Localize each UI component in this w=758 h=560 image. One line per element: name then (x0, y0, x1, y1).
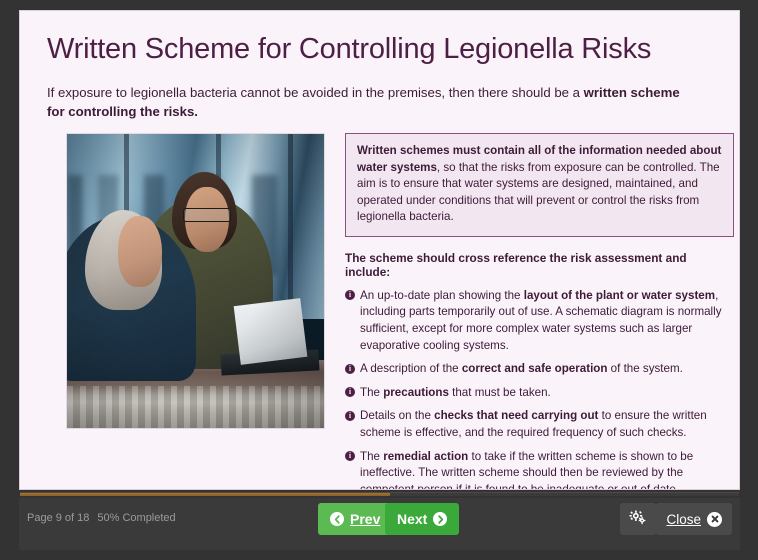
callout-box: Written schemes must contain all of the … (345, 133, 734, 237)
page-title: Written Scheme for Controlling Legionell… (47, 33, 714, 65)
slide-body: Written schemes must contain all of the … (66, 133, 734, 433)
progress-bar-fill (20, 493, 390, 496)
list-item-bold: layout of the plant or water system (524, 289, 715, 302)
list-item: iA description of the correct and safe o… (345, 361, 734, 378)
page-status: Page 9 of 1850% Completed (27, 512, 184, 524)
completion-status: 50% Completed (97, 512, 175, 524)
next-button-label: Next (397, 511, 427, 527)
intro-paragraph: If exposure to legionella bacteria canno… (47, 84, 699, 121)
page-counter: Page 9 of 18 (27, 512, 89, 524)
close-circle-icon (707, 512, 722, 527)
slide-header-block: Written Scheme for Controlling Legionell… (47, 33, 714, 122)
info-icon: i (345, 364, 355, 374)
list-item-pre: The (360, 450, 383, 463)
list-item: iDetails on the checks that need carryin… (345, 408, 734, 441)
chevron-left-circle-icon (330, 512, 344, 526)
info-icon: i (345, 290, 355, 300)
player-control-bar: Page 9 of 1850% Completed Prev Next (19, 498, 740, 550)
list-item-pre: An up-to-date plan showing the (360, 289, 524, 302)
info-icon: i (345, 451, 355, 461)
list-item-bold: checks that need carrying out (434, 409, 598, 422)
list-item: iThe remedial action to take if the writ… (345, 449, 734, 490)
list-item-bold: remedial action (383, 450, 468, 463)
prev-button[interactable]: Prev (318, 503, 392, 535)
slide-text-column: Written schemes must contain all of the … (345, 133, 734, 490)
info-icon: i (345, 387, 355, 397)
list-item-pre: Details on the (360, 409, 434, 422)
list-item-pre: A description of the (360, 362, 462, 375)
list-item-post: that must be taken. (449, 386, 551, 399)
prev-button-label: Prev (350, 511, 380, 527)
next-button[interactable]: Next (385, 503, 459, 535)
list-item-post: of the system. (607, 362, 682, 375)
course-player: Written Scheme for Controlling Legionell… (0, 0, 758, 560)
progress-bar-track[interactable] (20, 492, 739, 496)
list-item-bold: correct and safe operation (462, 362, 608, 375)
photo-vignette (67, 134, 324, 428)
gear-icon (629, 510, 647, 529)
close-button[interactable]: Close (656, 503, 732, 535)
list-item: iAn up-to-date plan showing the layout o… (345, 288, 734, 354)
info-icon: i (345, 411, 355, 421)
list-item-bold: precautions (383, 386, 449, 399)
settings-button[interactable] (620, 503, 656, 535)
slide-content-panel: Written Scheme for Controlling Legionell… (19, 10, 740, 490)
slide-photo (66, 133, 325, 429)
list-item-pre: The (360, 386, 383, 399)
photo-illustration (67, 134, 324, 428)
list-heading: The scheme should cross reference the ri… (345, 251, 734, 279)
close-button-label: Close (666, 512, 701, 527)
chevron-right-circle-icon (433, 512, 447, 526)
list-item: iThe precautions that must be taken. (345, 385, 734, 402)
intro-lead-text: If exposure to legionella bacteria canno… (47, 85, 584, 100)
requirements-list: iAn up-to-date plan showing the layout o… (345, 288, 734, 490)
